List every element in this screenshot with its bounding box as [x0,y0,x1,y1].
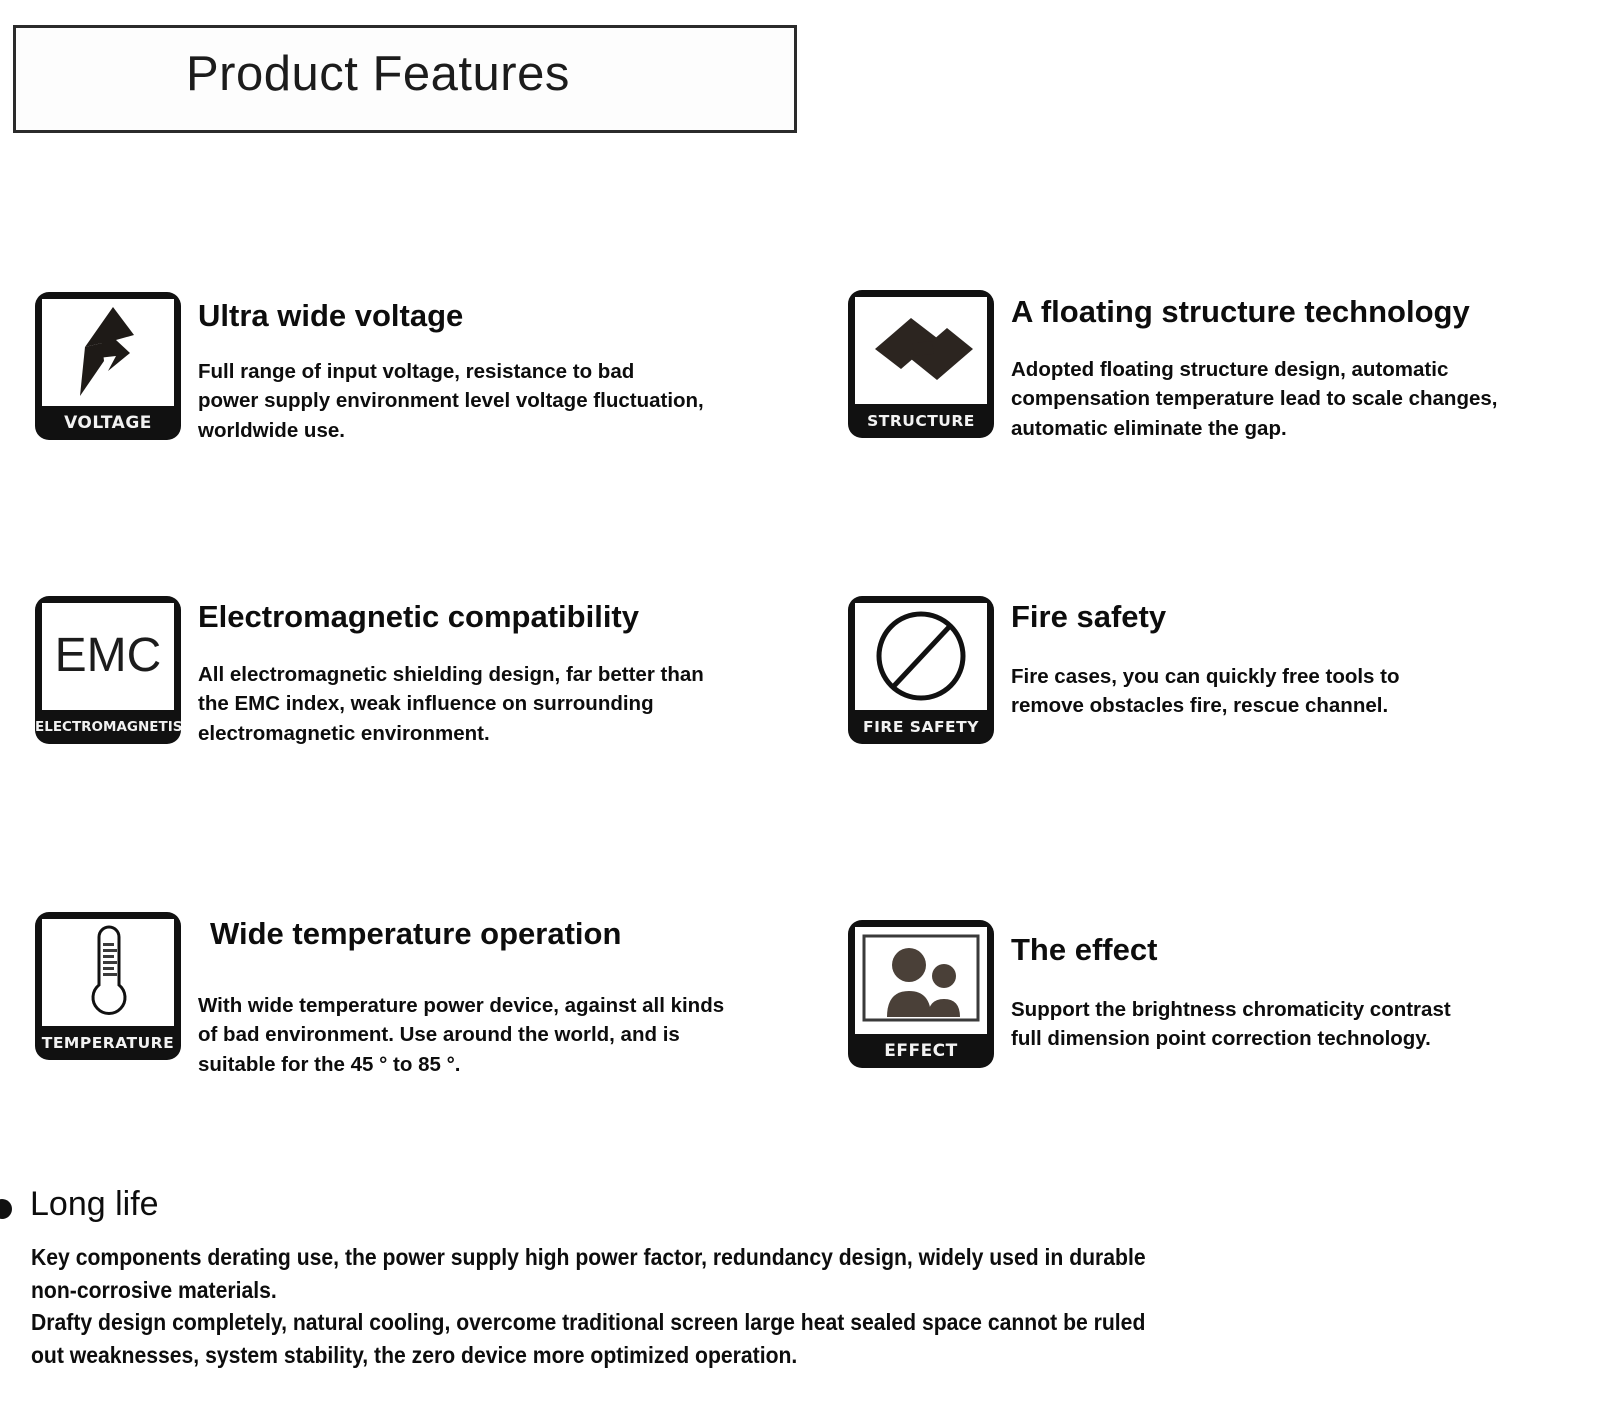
structure-panels-icon [855,297,987,404]
feature-heading: The effect [1011,934,1591,967]
icon-caption: ELECTROMAGNETISM [35,710,181,744]
long-life-body: Key components derating use, the power s… [31,1241,1337,1372]
icon-caption: VOLTAGE [35,406,181,440]
feature-body: All electromagnetic shielding design, fa… [198,660,858,749]
feature-text-block: Electromagnetic compatibility All electr… [198,601,858,749]
voltage-bolt-icon [42,299,174,406]
emc-icon-tile: EMC ELECTROMAGNETISM [35,596,181,744]
icon-face [42,299,174,406]
icon-caption: FIRE SAFETY [848,710,994,744]
icon-caption: STRUCTURE [848,404,994,438]
icon-face: EMC [42,603,174,710]
page-title: Product Features [186,46,570,102]
structure-icon-tile: STRUCTURE [848,290,994,438]
effect-icon-tile: EFFECT [848,920,994,1068]
feature-text-block: A floating structure technology Adopted … [1011,296,1600,444]
page-title-box: Product Features [13,25,797,133]
feature-heading: Fire safety [1011,601,1571,634]
feature-heading: Wide temperature operation [210,918,890,951]
feature-body: Fire cases, you can quickly free tools t… [1011,662,1571,721]
icon-face [855,603,987,710]
feature-body: Full range of input voltage, resistance … [198,357,858,446]
feature-text-block: Fire safety Fire cases, you can quickly … [1011,601,1571,721]
temperature-icon-tile: TEMPERATURE [35,912,181,1060]
feature-text-block: The effect Support the brightness chroma… [1011,934,1591,1054]
feature-text-block: Ultra wide voltage Full range of input v… [198,300,858,446]
prohibition-circle-icon [855,603,987,710]
icon-caption: TEMPERATURE [35,1026,181,1060]
people-frame-icon [855,927,987,1034]
thermometer-icon [42,919,174,1026]
emc-text-icon: EMC [42,603,174,710]
feature-body: Support the brightness chromaticity cont… [1011,995,1591,1054]
icon-face [42,919,174,1026]
fire-safety-icon-tile: FIRE SAFETY [848,596,994,744]
long-life-heading: Long life [30,1185,159,1224]
feature-heading: Ultra wide voltage [198,300,858,333]
voltage-icon-tile: VOLTAGE [35,292,181,440]
svg-text:EMC: EMC [55,629,162,682]
icon-face [855,297,987,404]
feature-heading: Electromagnetic compatibility [198,601,858,634]
icon-face [855,927,987,1034]
icon-caption: EFFECT [848,1034,994,1068]
bullet-dot-icon [0,1199,12,1219]
feature-body: With wide temperature power device, agai… [198,991,890,1080]
feature-body: Adopted floating structure design, autom… [1011,355,1600,444]
feature-heading: A floating structure technology [1011,296,1600,329]
feature-text-block: Wide temperature operation With wide tem… [210,918,890,1080]
